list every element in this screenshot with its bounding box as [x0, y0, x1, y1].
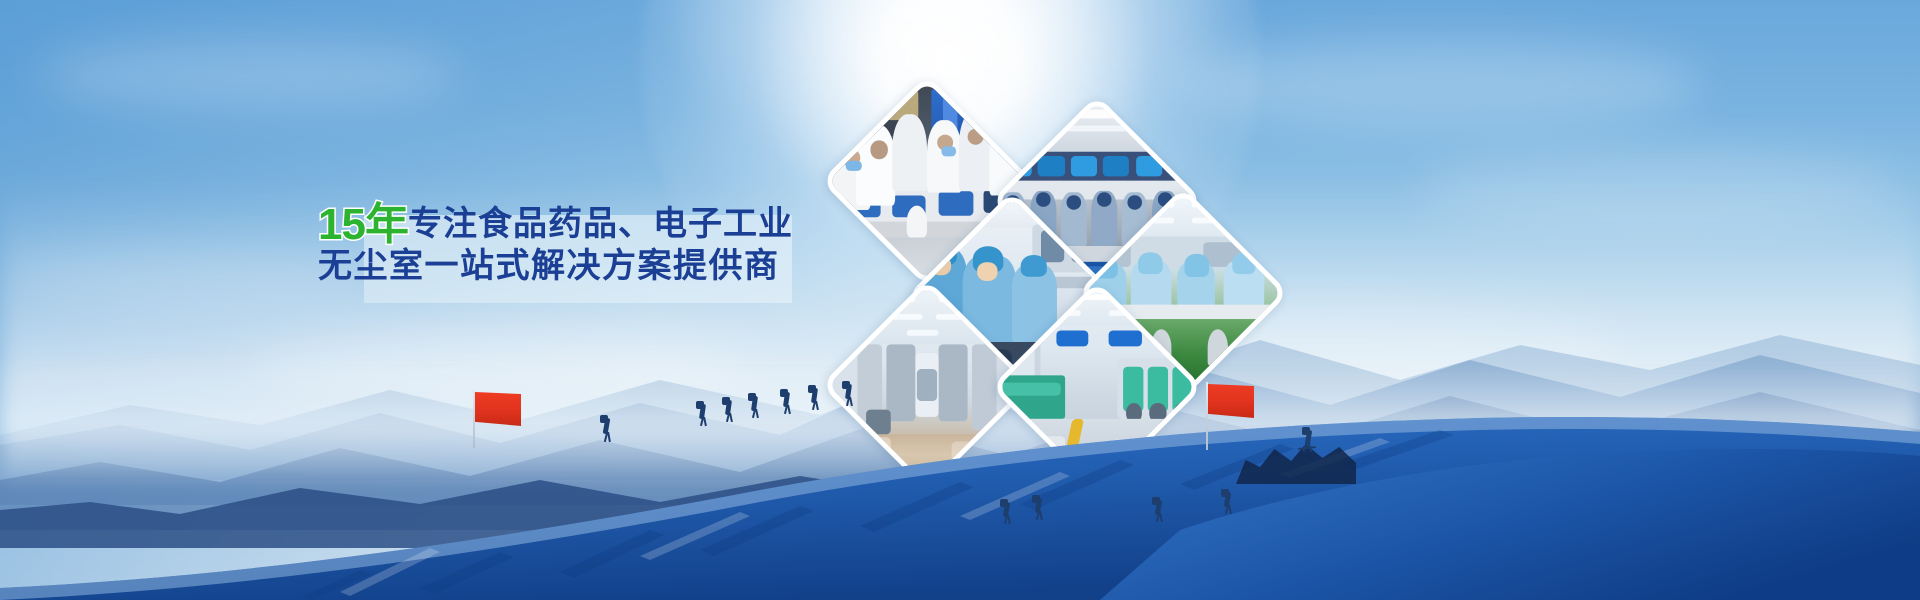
climber-backpack [1000, 499, 1008, 507]
headline-line-1-rest: 专注食品药品、电子工业 [408, 205, 793, 243]
hero-banner: 15年专注食品药品、电子工业 无尘室一站式解决方案提供商 [0, 0, 1920, 600]
flag-cloth [475, 392, 521, 426]
cloud-wisp [1180, 40, 1700, 130]
foreground-ridge [0, 340, 1920, 600]
headline-block: 15年专注食品药品、电子工业 无尘室一站式解决方案提供商 [318, 203, 838, 293]
climber-backpack [1152, 497, 1160, 505]
climber-backpack [748, 393, 756, 401]
years-badge: 15年 [318, 200, 408, 249]
flag-pole [473, 390, 475, 448]
climber-backpack [1302, 427, 1310, 435]
flag-cloth [1208, 384, 1254, 418]
flag-pole [1206, 382, 1208, 450]
cloud-wisp [40, 40, 460, 110]
climber-backpack [600, 415, 608, 423]
climber-backpack [780, 389, 788, 397]
climber-backpack [808, 385, 816, 393]
climber-backpack [722, 397, 730, 405]
headline-line-1: 15年专注食品药品、电子工业 [318, 203, 838, 247]
climber-backpack [1221, 489, 1229, 497]
red-flag-left [473, 390, 523, 448]
climber-backpack [696, 401, 704, 409]
climber-backpack [1032, 495, 1040, 503]
headline-line-2: 无尘室一站式解决方案提供商 [318, 249, 838, 293]
climber-backpack [842, 381, 850, 389]
red-flag-right [1206, 382, 1258, 450]
